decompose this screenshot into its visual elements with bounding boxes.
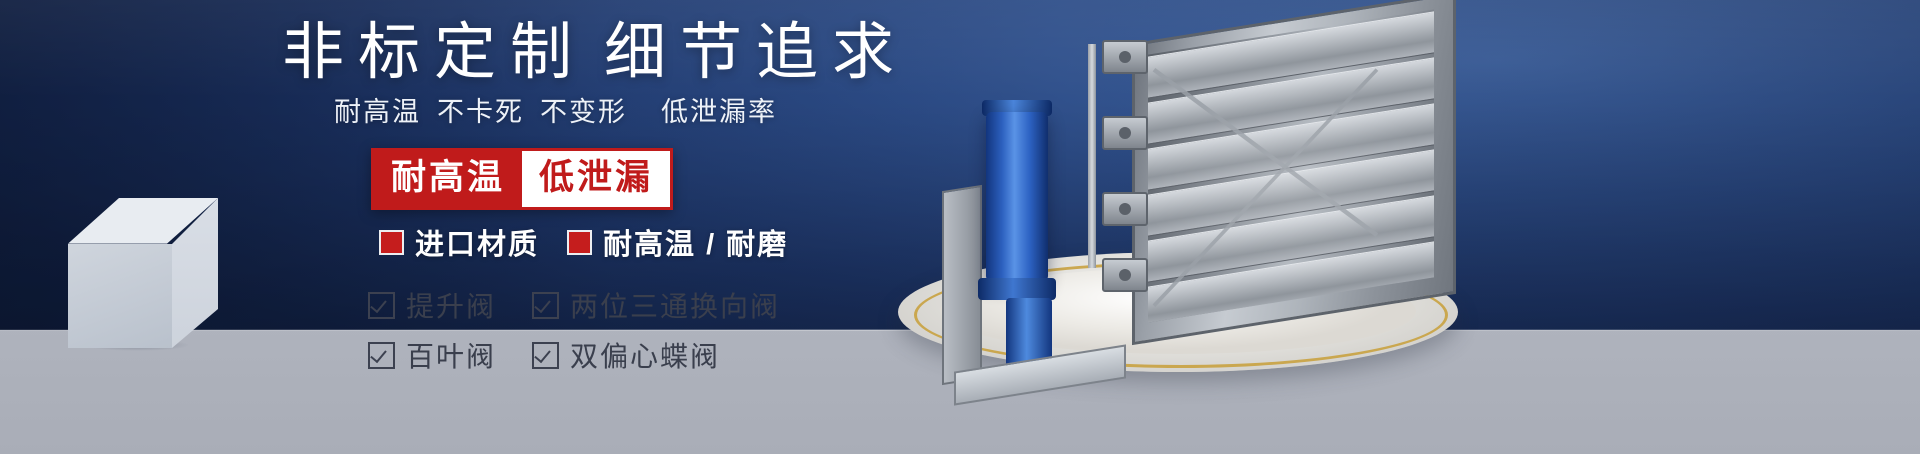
subheadline-item-3: 不变形 (540, 97, 627, 127)
headline: 非标定制细节追求 (282, 14, 902, 92)
filled-square-icon (381, 232, 402, 253)
decorative-cube (68, 198, 218, 348)
checklist-label: 提升阀 (406, 285, 496, 325)
hinge-bolt-icon (1119, 203, 1131, 215)
subheadline-item-4: 低泄漏率 (661, 97, 777, 127)
louver-damper-unit (1132, 0, 1450, 339)
damper-hinge (1102, 258, 1148, 292)
checklist-item: 双偏心蝶阀 (532, 335, 780, 375)
damper-hinge (1102, 116, 1148, 150)
damper-hinge (1102, 192, 1148, 226)
badge-segment-red: 耐高温 (374, 151, 522, 207)
damper-hinge (1102, 40, 1148, 74)
product-checklist: 提升阀 两位三通换向阀 百叶阀 双偏心蝶阀 (368, 285, 780, 375)
bullet-item: 进口材质 (381, 221, 539, 263)
badge-segment-white: 低泄漏 (522, 151, 670, 207)
headline-part-2: 细节追求 (604, 18, 908, 87)
checklist-label: 两位三通换向阀 (570, 285, 780, 325)
bullet-label: 耐高温 / 耐磨 (603, 221, 788, 263)
subheadline-item-2: 不卡死 (437, 97, 524, 127)
checkbox-checked-icon (368, 342, 395, 369)
actuator-stand (942, 185, 982, 385)
cube-front-face (68, 244, 172, 348)
checklist-item: 两位三通换向阀 (532, 285, 780, 325)
checklist-label: 双偏心蝶阀 (570, 335, 720, 375)
checklist-item: 提升阀 (368, 285, 496, 325)
checklist-label: 百叶阀 (406, 335, 496, 375)
checkbox-checked-icon (532, 292, 559, 319)
headline-part-1: 非标定制 (282, 18, 586, 87)
hinge-bolt-icon (1119, 269, 1131, 281)
hinge-bolt-icon (1119, 51, 1131, 63)
feature-badge: 耐高温 低泄漏 (371, 148, 673, 210)
damper-interior (1148, 9, 1434, 322)
cylinder-body (986, 112, 1048, 282)
checkbox-checked-icon (532, 342, 559, 369)
subheadline-item-1: 耐高温 (334, 97, 421, 127)
subheadline: 耐高温不卡死不变形低泄漏率 (334, 92, 954, 132)
filled-square-icon (569, 232, 590, 253)
cylinder-base (978, 278, 1056, 300)
checklist-item: 百叶阀 (368, 335, 496, 375)
product-image (880, 0, 1580, 400)
checkbox-checked-icon (368, 292, 395, 319)
bullet-row: 进口材质 耐高温 / 耐磨 (381, 221, 788, 263)
bullet-item: 耐高温 / 耐磨 (569, 221, 788, 263)
bullet-label: 进口材质 (415, 221, 539, 263)
promo-banner: 非标定制细节追求 耐高温不卡死不变形低泄漏率 耐高温 低泄漏 进口材质 耐高温 … (0, 0, 1920, 454)
hinge-bolt-icon (1119, 127, 1131, 139)
pneumatic-actuator (972, 112, 1092, 342)
